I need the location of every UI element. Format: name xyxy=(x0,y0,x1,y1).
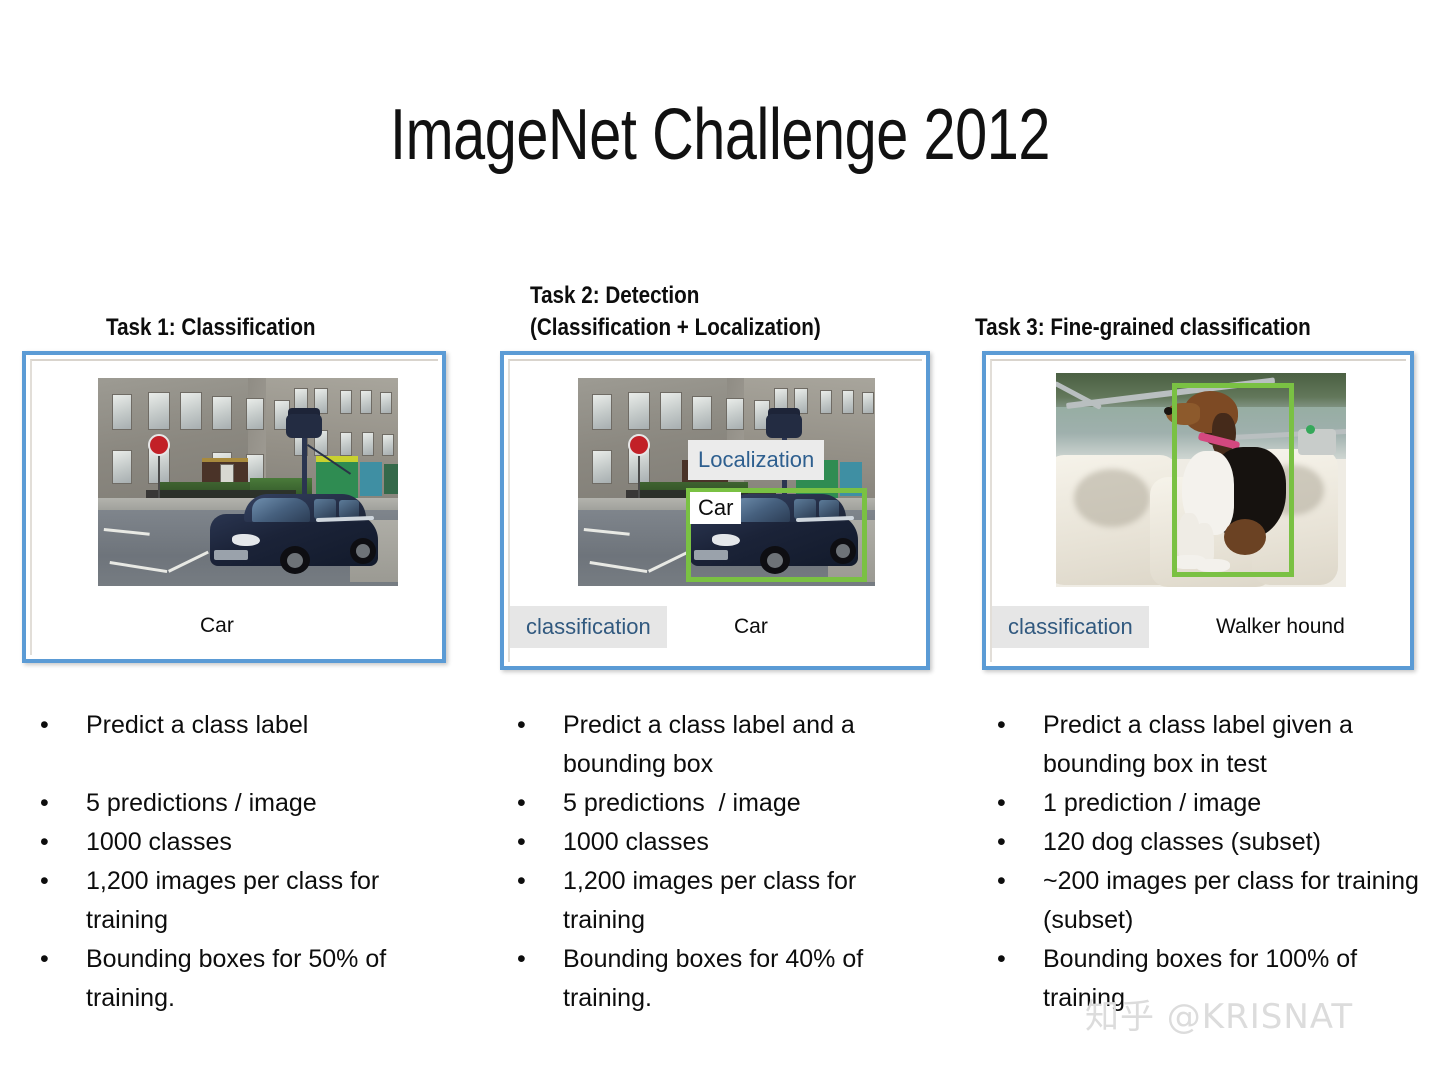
no-entry-sign xyxy=(628,434,650,456)
window xyxy=(362,432,374,456)
bullet-text: 1,200 images per class for training xyxy=(563,862,935,940)
window xyxy=(794,388,808,414)
console-panel xyxy=(1298,429,1336,455)
bullet-dot-icon: • xyxy=(997,940,1006,979)
task-2-classification-tag: classification xyxy=(510,606,667,648)
bullet-text: Predict a class label xyxy=(86,706,458,745)
bullet-dot-icon: • xyxy=(40,706,49,745)
bullet-dot-icon: • xyxy=(997,706,1006,745)
bullet-item: •Bounding boxes for 50% of training. xyxy=(28,940,458,1018)
task-3-caption: Walker hound xyxy=(1216,612,1345,642)
bullet-item: •1000 classes xyxy=(505,823,935,862)
window xyxy=(180,392,202,430)
task-2-header: Task 2: Detection (Classification + Loca… xyxy=(530,280,821,344)
bullet-dot-icon: • xyxy=(997,862,1006,901)
bullet-item: •1 prediction / image xyxy=(985,784,1425,823)
task-1-header: Task 1: Classification xyxy=(106,312,316,344)
boat-interior-scene xyxy=(1056,373,1346,587)
task-1-header-line-1: Task 1: Classification xyxy=(106,312,316,344)
bullet-text: 1000 classes xyxy=(563,823,935,862)
bullet-dot-icon: • xyxy=(40,784,49,823)
task-3-dog-photo xyxy=(1056,373,1346,587)
task-3-panel: classification Walker hound xyxy=(982,351,1414,670)
window xyxy=(360,390,372,414)
window xyxy=(628,392,650,430)
bullet-spacer xyxy=(28,745,458,784)
task-2-caption: Car xyxy=(734,612,768,642)
window xyxy=(692,396,712,430)
bullet-item: •~200 images per class for training (sub… xyxy=(985,862,1425,940)
window xyxy=(246,398,264,430)
bullet-dot-icon: • xyxy=(40,823,49,862)
bullet-dot-icon: • xyxy=(40,940,49,979)
window xyxy=(726,398,744,430)
window xyxy=(382,434,394,456)
bullet-dot-icon: • xyxy=(517,862,526,901)
task-3-classification-tag: classification xyxy=(992,606,1149,648)
task-2-header-line-2: (Classification + Localization) xyxy=(530,312,821,344)
bullet-text: Bounding boxes for 40% of training. xyxy=(563,940,935,1018)
bullet-item: •1,200 images per class for training xyxy=(28,862,458,940)
camera-mast xyxy=(302,430,307,504)
task-1-caption: Car xyxy=(200,611,234,641)
bounding-box-label: Car xyxy=(690,492,741,524)
side-window xyxy=(339,500,359,518)
bullet-item: •5 predictions / image xyxy=(28,784,458,823)
window xyxy=(592,450,612,484)
window xyxy=(380,392,392,414)
task-3-header: Task 3: Fine-grained classification xyxy=(975,312,1311,344)
window xyxy=(340,390,352,414)
bullet-text: 5 predictions / image xyxy=(563,784,935,823)
wheel-rim xyxy=(287,553,303,568)
window xyxy=(294,388,308,414)
green-shopfront xyxy=(384,464,398,494)
task-2-street-photo: Localization Car xyxy=(578,378,875,586)
camera-head xyxy=(766,414,802,438)
window xyxy=(340,432,352,456)
window xyxy=(820,390,832,414)
bullet-dot-icon: • xyxy=(40,862,49,901)
window xyxy=(592,394,612,430)
headlight xyxy=(232,534,260,546)
task-1-street-photo xyxy=(98,378,398,586)
bullet-text: 5 predictions / image xyxy=(86,784,458,823)
bullet-text: Predict a class label given a bounding b… xyxy=(1043,706,1425,784)
task-3-bullet-list: •Predict a class label given a bounding … xyxy=(985,706,1425,1018)
task-3-header-line-1: Task 3: Fine-grained classification xyxy=(975,312,1311,344)
bullet-text: 1,200 images per class for training xyxy=(86,862,458,940)
street-scene: Localization Car xyxy=(578,378,875,586)
task-2-bullet-list: •Predict a class label and a bounding bo… xyxy=(505,706,935,1018)
task-2-panel: Localization Car classification Car xyxy=(500,351,930,670)
street-scene xyxy=(98,378,398,586)
bullet-item: •Predict a class label given a bounding … xyxy=(985,706,1425,784)
bullet-dot-icon: • xyxy=(517,784,526,823)
window xyxy=(774,388,788,414)
window xyxy=(660,392,682,430)
bullet-item: •1,200 images per class for training xyxy=(505,862,935,940)
bullet-dot-icon: • xyxy=(517,823,526,862)
fine-grained-bounding-box xyxy=(1172,383,1294,577)
bullet-text: 1 prediction / image xyxy=(1043,784,1425,823)
window xyxy=(112,450,132,484)
task-1-panel-inner: Car xyxy=(30,359,438,655)
bullet-text: 120 dog classes (subset) xyxy=(1043,823,1425,862)
bullet-item: •Predict a class label and a bounding bo… xyxy=(505,706,935,784)
no-entry-sign xyxy=(148,434,170,456)
wheel-rim xyxy=(356,544,370,558)
page-title: ImageNet Challenge 2012 xyxy=(144,92,1296,178)
bullet-dot-icon: • xyxy=(997,784,1006,823)
window xyxy=(212,396,232,430)
window xyxy=(148,392,170,430)
seat-crease xyxy=(1074,469,1150,527)
teal-shopfront xyxy=(360,462,382,496)
task-3-panel-inner: classification Walker hound xyxy=(990,359,1406,662)
console-light xyxy=(1306,425,1315,434)
bullet-dot-icon: • xyxy=(517,940,526,979)
localization-label: Localization xyxy=(688,440,824,480)
awning xyxy=(316,456,358,462)
window xyxy=(862,392,874,414)
task-2-panel-inner: Localization Car classification Car xyxy=(508,359,922,662)
camera-head xyxy=(286,414,322,438)
bullet-text: ~200 images per class for training (subs… xyxy=(1043,862,1425,940)
bullet-item: •Predict a class label xyxy=(28,706,458,745)
bullet-item: •120 dog classes (subset) xyxy=(985,823,1425,862)
task-1-bullet-list: •Predict a class label•5 predictions / i… xyxy=(28,706,458,1018)
bullet-text: Bounding boxes for 50% of training. xyxy=(86,940,458,1018)
window xyxy=(112,394,132,430)
watermark: 知乎 @KRISNAT xyxy=(1085,995,1353,1039)
awning xyxy=(202,458,248,462)
bullet-text: Predict a class label and a bounding box xyxy=(563,706,935,784)
bullet-dot-icon: • xyxy=(997,823,1006,862)
task-2-header-line-1: Task 2: Detection xyxy=(530,280,821,312)
task-1-panel: Car xyxy=(22,351,446,663)
side-window xyxy=(314,499,336,519)
bullet-item: •5 predictions / image xyxy=(505,784,935,823)
bullet-item: •1000 classes xyxy=(28,823,458,862)
bullet-text: 1000 classes xyxy=(86,823,458,862)
windshield xyxy=(252,498,310,522)
window xyxy=(314,388,328,414)
bullet-dot-icon: • xyxy=(517,706,526,745)
bullet-item: •Bounding boxes for 40% of training. xyxy=(505,940,935,1018)
license-plate xyxy=(214,550,248,560)
window xyxy=(842,390,854,414)
